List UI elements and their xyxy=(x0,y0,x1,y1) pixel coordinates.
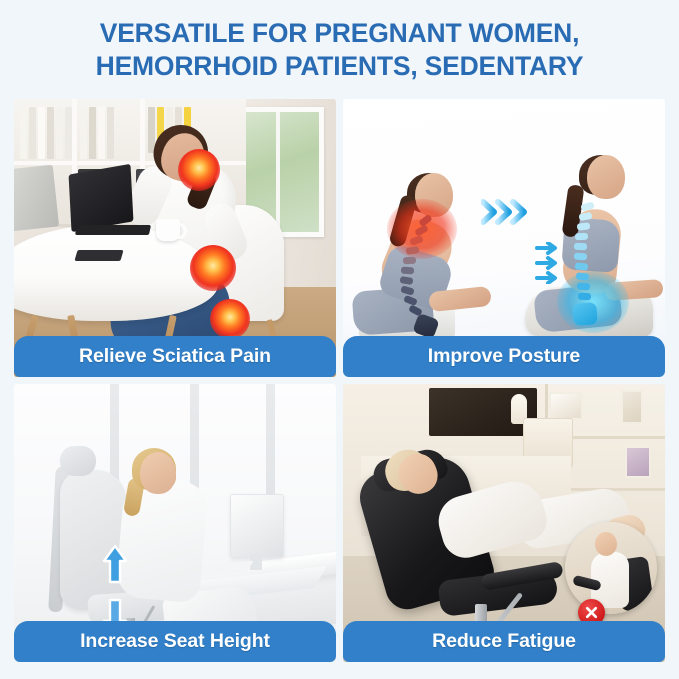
panel-caption-increase-seat-height: Increase Seat Height xyxy=(14,621,336,662)
person-head xyxy=(140,452,176,494)
chair-backrest xyxy=(60,470,126,610)
picture-frame-2 xyxy=(621,390,643,424)
lower-back-pain-glow xyxy=(190,245,236,291)
arrow-right-small-icon xyxy=(535,242,565,284)
page-title: VERSATILE FOR PREGNANT WOMEN, HEMORRHOID… xyxy=(0,17,679,83)
picture-frame-1 xyxy=(549,392,583,420)
picture-frame-3 xyxy=(625,446,651,478)
neck-pain-glow xyxy=(178,149,220,191)
spine-slouched xyxy=(391,215,431,331)
laptop-keyboard xyxy=(75,225,151,235)
chevron-arrows xyxy=(481,199,533,225)
laptop-screen xyxy=(69,164,134,232)
feature-panel-reduce-fatigue[interactable]: Reduce Fatigue xyxy=(343,384,665,662)
chair-headrest xyxy=(60,446,96,476)
coffee-mug xyxy=(156,219,180,241)
panel-caption-reduce-fatigue: Reduce Fatigue xyxy=(343,621,665,662)
chevron-right-icon xyxy=(481,199,533,225)
panel-caption-relieve-sciatica-pain: Relieve Sciatica Pain xyxy=(14,336,336,377)
close-icon xyxy=(584,605,599,620)
monitor xyxy=(14,165,59,232)
tailbone-pain-glow xyxy=(210,299,250,339)
feature-panel-increase-seat-height[interactable]: Increase Seat Height xyxy=(14,384,336,662)
arrow-up-icon xyxy=(102,544,128,584)
notebook xyxy=(74,250,123,261)
inset-circle-bad-posture xyxy=(565,522,657,614)
page-title-line-1: VERSATILE FOR PREGNANT WOMEN, xyxy=(0,17,679,50)
feature-grid: Relieve Sciatica Pain xyxy=(14,99,665,665)
feature-panel-improve-posture[interactable]: Improve Posture xyxy=(343,99,665,377)
spine-upright xyxy=(565,203,595,327)
panel-caption-improve-posture: Improve Posture xyxy=(343,336,665,377)
page-title-line-2: HEMORRHOID PATIENTS, SEDENTARY xyxy=(0,50,679,83)
feature-panel-relieve-sciatica-pain[interactable]: Relieve Sciatica Pain xyxy=(14,99,336,377)
monitor xyxy=(230,494,284,558)
cyan-flow-arrows xyxy=(535,242,565,289)
